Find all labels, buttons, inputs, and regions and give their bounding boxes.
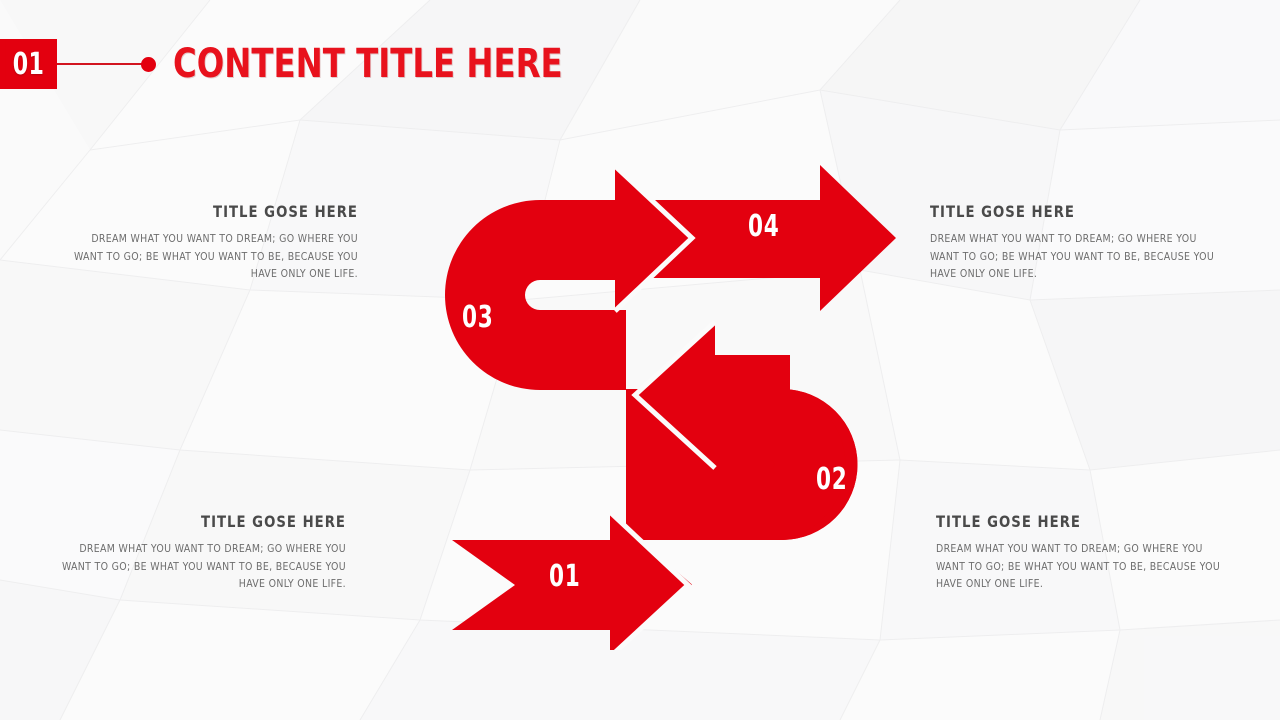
text-block-body: DREAM WHAT YOU WANT TO DREAM; GO WHERE Y… xyxy=(930,230,1215,283)
bullet-dot-icon xyxy=(141,57,156,72)
text-block-body: DREAM WHAT YOU WANT TO DREAM; GO WHERE Y… xyxy=(936,540,1221,593)
text-block-top-left: TITLE GOSE HERE DREAM WHAT YOU WANT TO D… xyxy=(58,202,358,283)
text-block-title: TITLE GOSE HERE xyxy=(936,512,1212,531)
text-block-title: TITLE GOSE HERE xyxy=(930,202,1206,221)
text-block-bottom-right: TITLE GOSE HERE DREAM WHAT YOU WANT TO D… xyxy=(936,512,1236,593)
text-block-body: DREAM WHAT YOU WANT TO DREAM; GO WHERE Y… xyxy=(61,540,346,593)
s-shaped-process-arrow-diagram xyxy=(430,160,900,650)
header-connector-line-icon xyxy=(57,63,143,65)
page-title: CONTENT TITLE HERE xyxy=(173,44,563,84)
text-block-bottom-left: TITLE GOSE HERE DREAM WHAT YOU WANT TO D… xyxy=(46,512,346,593)
text-block-body: DREAM WHAT YOU WANT TO DREAM; GO WHERE Y… xyxy=(73,230,358,283)
section-number-label: 01 xyxy=(5,39,52,89)
top-right-arrowhead xyxy=(543,166,692,311)
text-block-top-right: TITLE GOSE HERE DREAM WHAT YOU WANT TO D… xyxy=(930,202,1230,283)
section-number-badge: 01 xyxy=(0,39,57,89)
page-header: 01 CONTENT TITLE HERE xyxy=(0,38,606,90)
text-block-title: TITLE GOSE HERE xyxy=(82,202,358,221)
text-block-title: TITLE GOSE HERE xyxy=(70,512,346,531)
